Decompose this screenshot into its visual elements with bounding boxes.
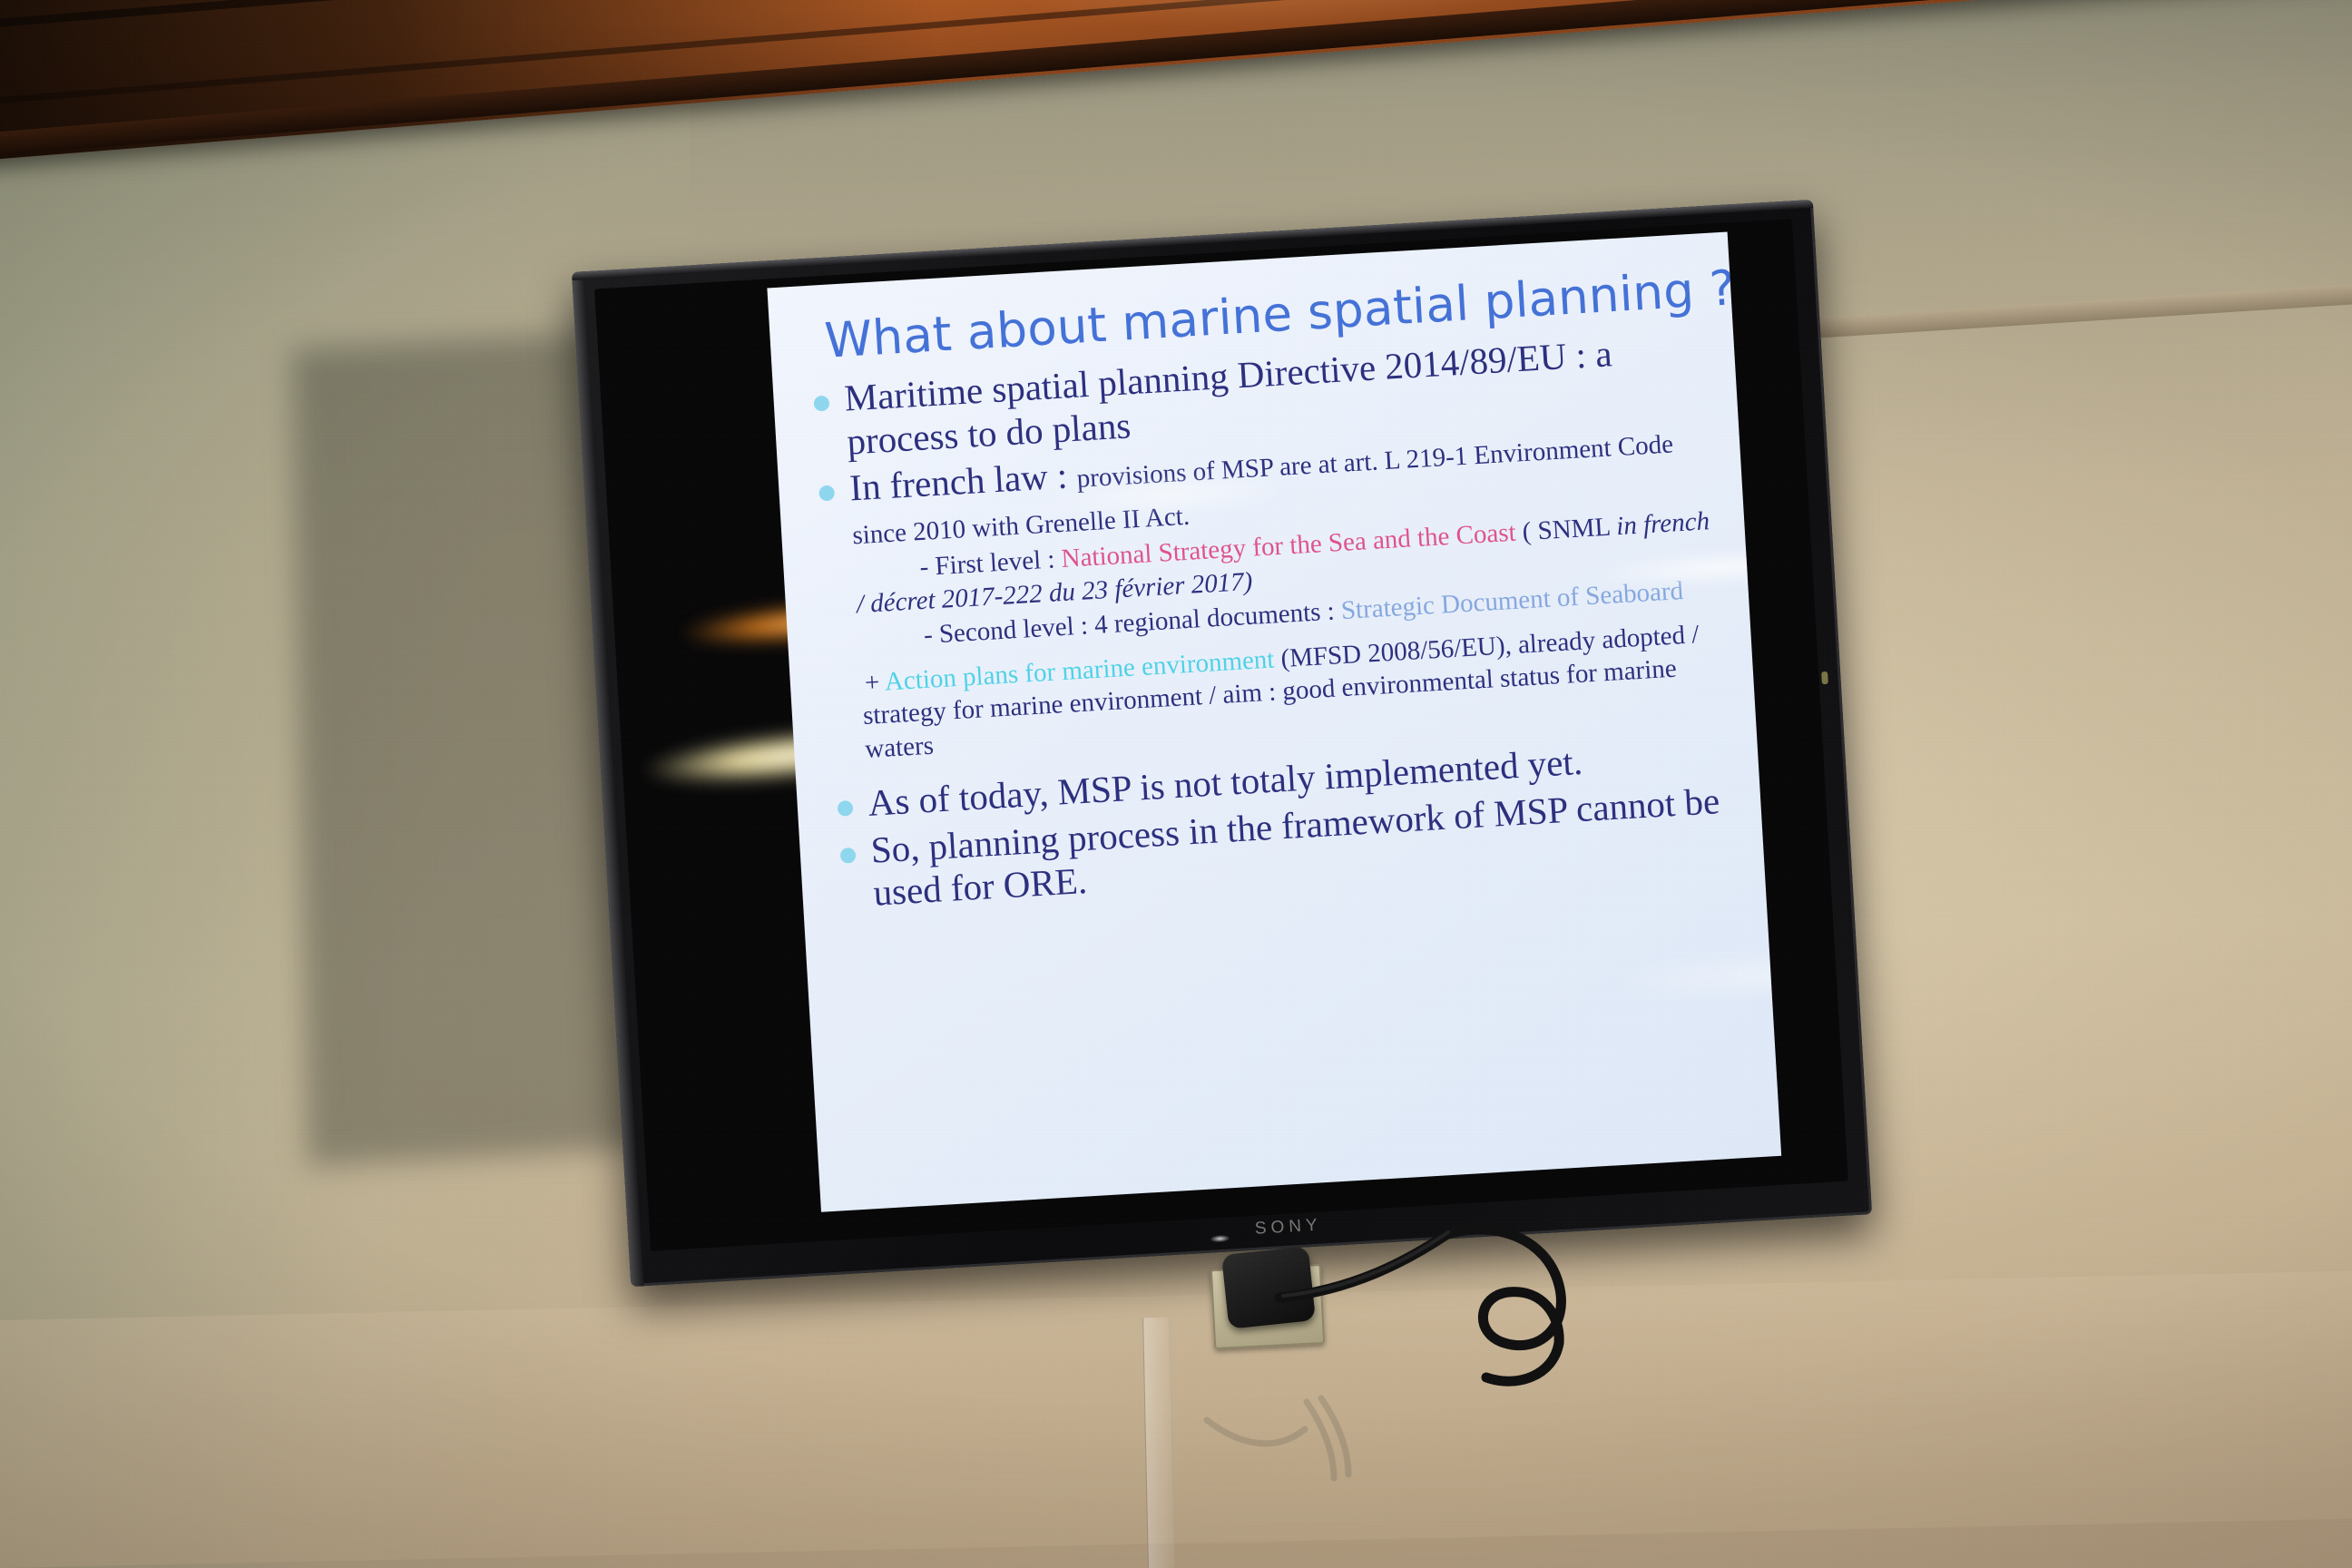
tv-side-indicator-icon — [1821, 671, 1828, 684]
bullet-french-law-lead: In french law : — [848, 455, 1068, 509]
wall-lower-light-band — [0, 1271, 2352, 1568]
cable-shadow — [1198, 1366, 1406, 1493]
cable-trunking-strip — [1142, 1318, 1175, 1568]
tv-display-panel: What about marine spatial planning ? Mar… — [594, 219, 1848, 1250]
first-level-label: - First level : — [919, 545, 1056, 583]
wall-mounted-television[interactable]: What about marine spatial planning ? Mar… — [572, 200, 1872, 1287]
presentation-slide: What about marine spatial planning ? Mar… — [767, 232, 1781, 1212]
action-plans-plus-sign: + — [864, 668, 880, 698]
lecture-room-scene: What about marine spatial planning ? Mar… — [0, 0, 2352, 1568]
list-item: In french law : provisions of MSP are at… — [812, 416, 1725, 768]
screen-glare-middle — [1607, 947, 1782, 1003]
first-level-tail-open: ( SNML — [1522, 513, 1611, 547]
slide-bullet-list: Maritime spatial planning Directive 2014… — [807, 327, 1733, 917]
